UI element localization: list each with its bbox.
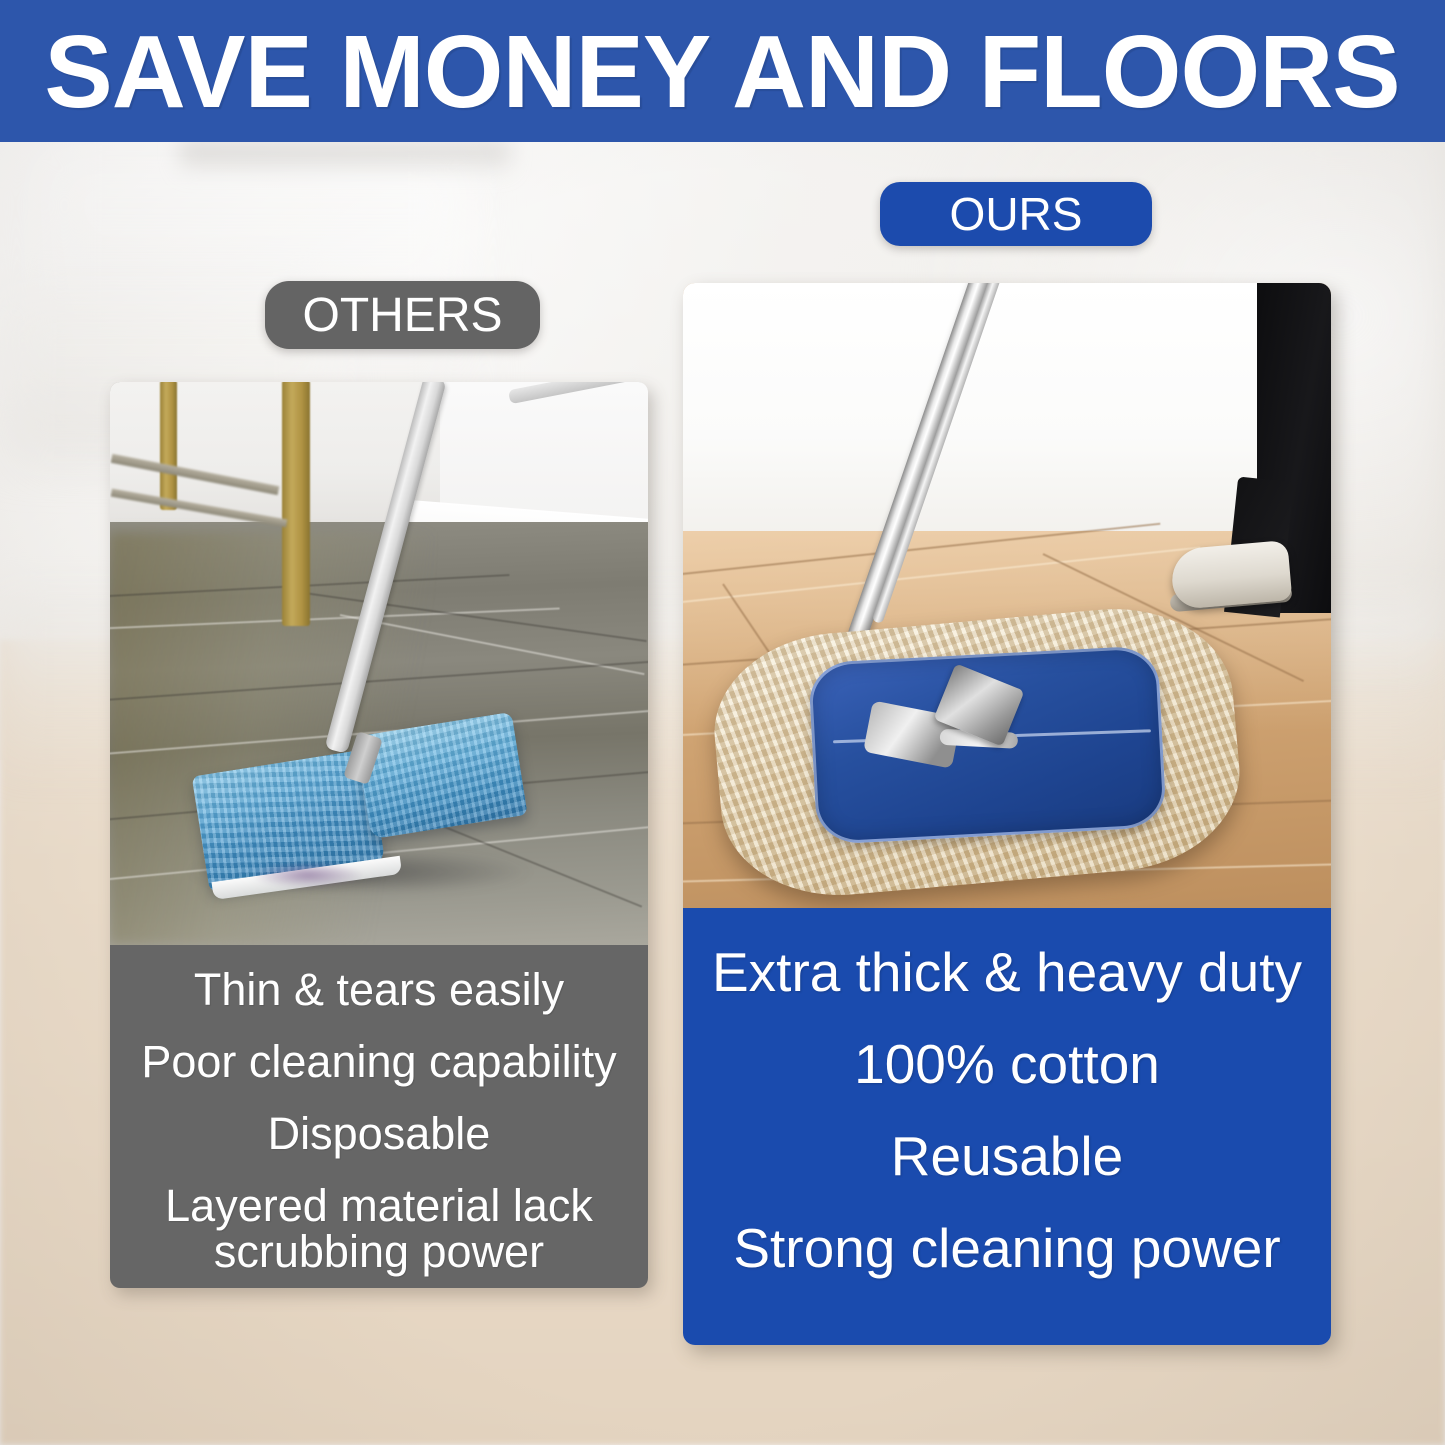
photo-others-stain: [250, 862, 365, 888]
feature-item: 100% cotton: [854, 1036, 1160, 1092]
feature-item: Poor cleaning capability: [141, 1039, 616, 1085]
feature-item: Layered material lack scrubbing power: [165, 1183, 593, 1275]
photo-others-table-leg: [282, 382, 310, 626]
feature-item: Thin & tears easily: [194, 967, 564, 1013]
feature-item: Strong cleaning power: [733, 1220, 1280, 1276]
feature-item: Disposable: [268, 1111, 491, 1157]
feature-item: Reusable: [891, 1128, 1123, 1184]
photo-ours-shoe: [1170, 540, 1293, 610]
badge-others: OTHERS: [265, 281, 540, 349]
photo-others-table-leg: [160, 382, 177, 510]
page-title: SAVE MONEY AND FLOORS: [45, 20, 1400, 123]
feature-item: Extra thick & heavy duty: [712, 944, 1302, 1000]
product-photo-others: [110, 382, 648, 945]
comparison-card-others: Thin & tears easily Poor cleaning capabi…: [110, 382, 648, 1288]
badge-ours-label: OURS: [950, 187, 1083, 241]
badge-ours: OURS: [880, 182, 1152, 246]
features-panel-ours: Extra thick & heavy duty 100% cotton Reu…: [683, 908, 1331, 1345]
badge-others-label: OTHERS: [302, 288, 502, 343]
comparison-card-ours: Extra thick & heavy duty 100% cotton Reu…: [683, 283, 1331, 1345]
photo-ours-mop-head: [707, 599, 1248, 905]
features-panel-others: Thin & tears easily Poor cleaning capabi…: [110, 945, 648, 1288]
product-photo-ours: [683, 283, 1331, 908]
header-banner: SAVE MONEY AND FLOORS: [0, 0, 1445, 142]
